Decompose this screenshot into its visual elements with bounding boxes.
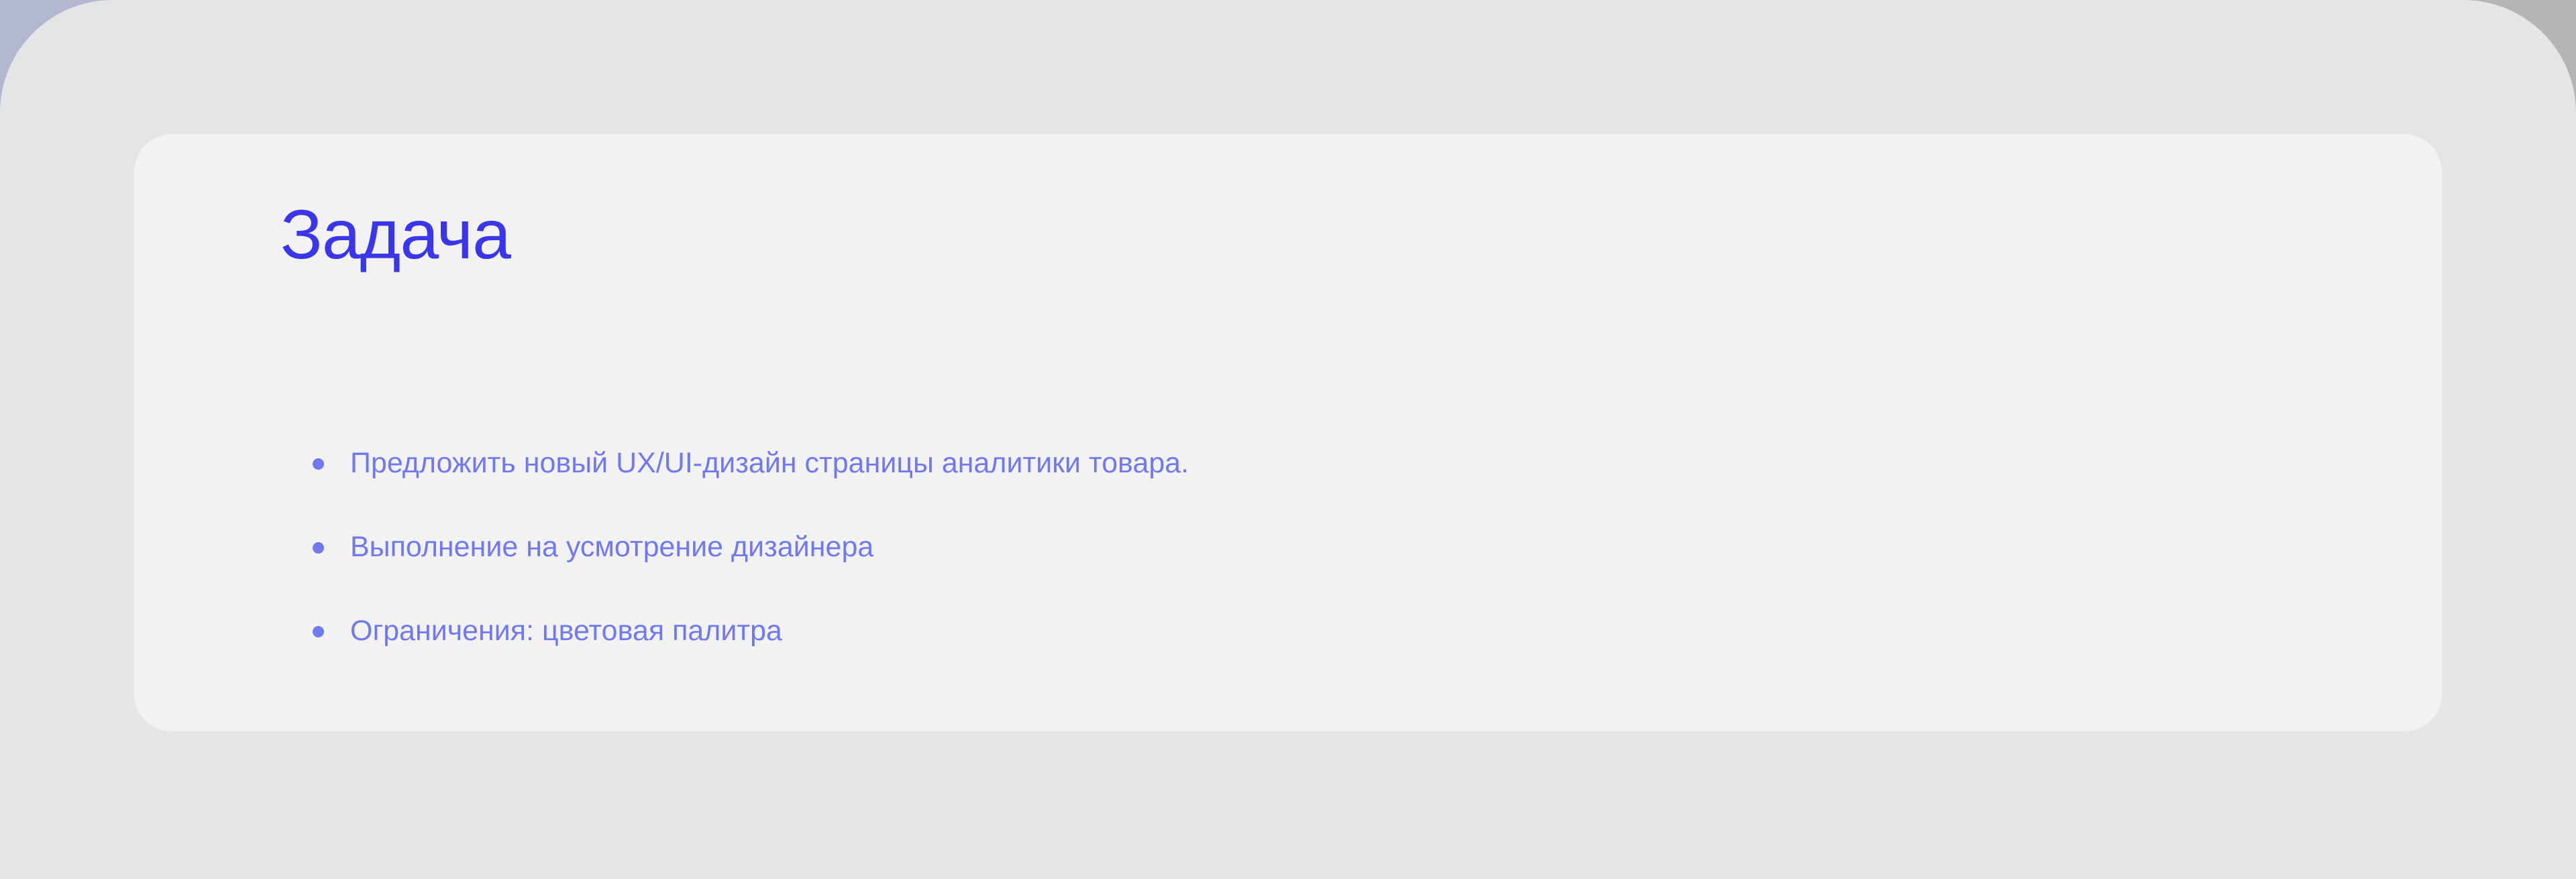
list-item-label: Ограничения: цветовая палитра	[350, 589, 782, 673]
list-item-label: Выполнение на усмотрение дизайнера	[350, 505, 873, 589]
page-title: Задача	[280, 199, 511, 272]
slide-canvas: Задача Предложить новый UX/UI-дизайн стр…	[0, 0, 2576, 879]
task-bullet-list: Предложить новый UX/UI-дизайн страницы а…	[310, 421, 1189, 673]
list-item-label: Предложить новый UX/UI-дизайн страницы а…	[350, 421, 1189, 505]
task-card: Задача Предложить новый UX/UI-дизайн стр…	[134, 134, 2442, 731]
list-item: Предложить новый UX/UI-дизайн страницы а…	[310, 421, 1189, 505]
bullet-dot-icon	[313, 626, 324, 637]
bullet-dot-icon	[313, 458, 324, 470]
bullet-dot-icon	[313, 542, 324, 554]
list-item: Ограничения: цветовая палитра	[310, 589, 1189, 673]
list-item: Выполнение на усмотрение дизайнера	[310, 505, 1189, 589]
